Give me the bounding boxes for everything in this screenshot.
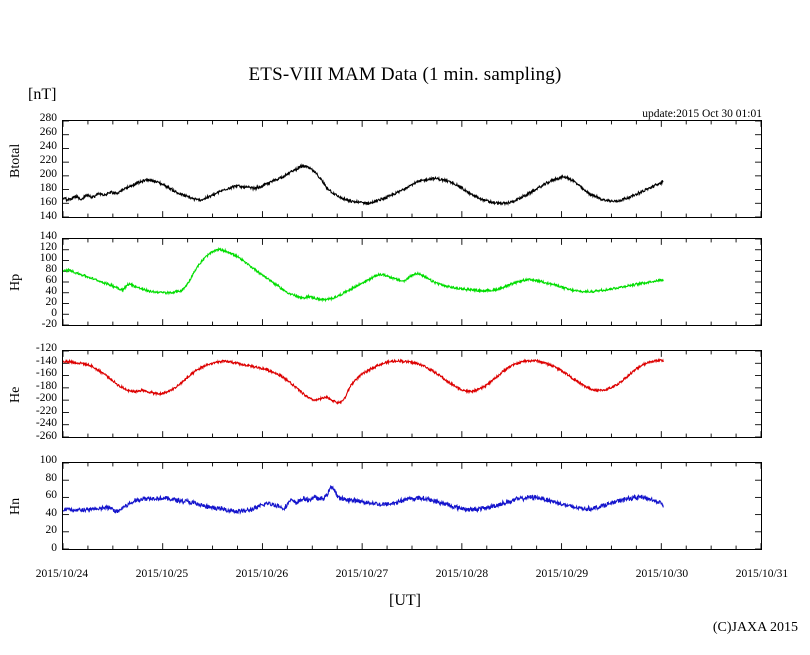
y-tick-label: 0 — [0, 308, 57, 320]
y-tick-label: 120 — [0, 242, 57, 254]
data-trace-btotal — [63, 165, 663, 205]
y-unit-label: [nT] — [28, 86, 56, 104]
y-tick-label: -260 — [0, 431, 57, 443]
y-tick-label: -120 — [0, 343, 57, 355]
copyright-label: (C)JAXA 2015 — [713, 620, 798, 636]
axis-label-hn: Hn — [6, 497, 26, 513]
x-axis-title: [UT] — [0, 592, 810, 610]
y-tick-label: 280 — [0, 113, 57, 125]
magnetometer-figure: ETS-VIII MAM Data (1 min. sampling) [nT]… — [0, 0, 810, 655]
x-tick-label: 2015/10/28 — [407, 568, 517, 580]
y-tick-label: 140 — [0, 231, 57, 243]
x-tick-label: 2015/10/24 — [7, 568, 117, 580]
y-tick-label: 160 — [0, 197, 57, 209]
x-tick-label: 2015/10/26 — [207, 568, 317, 580]
y-tick-label: -140 — [0, 356, 57, 368]
plot-panel-btotal — [62, 120, 762, 218]
x-tick-label: 2015/10/30 — [607, 568, 717, 580]
axis-label-hp: Hp — [6, 273, 26, 289]
axis-label-btotal: Btotal — [6, 160, 26, 176]
y-tick-label: -160 — [0, 368, 57, 380]
y-tick-label: -20 — [0, 319, 57, 331]
axis-label-he: He — [6, 385, 26, 401]
update-timestamp: update:2015 Oct 30 01:01 — [642, 108, 762, 120]
data-trace-hp — [63, 249, 663, 301]
y-tick-label: 180 — [0, 183, 57, 195]
x-tick-label: 2015/10/29 — [507, 568, 617, 580]
y-tick-label: 100 — [0, 253, 57, 265]
page-title: ETS-VIII MAM Data (1 min. sampling) — [0, 64, 810, 86]
x-tick-label: 2015/10/31 — [707, 568, 810, 580]
y-tick-label: 0 — [0, 543, 57, 555]
y-tick-label: 100 — [0, 455, 57, 467]
x-tick-label: 2015/10/25 — [107, 568, 217, 580]
data-trace-he — [63, 360, 663, 404]
x-tick-label: 2015/10/27 — [307, 568, 417, 580]
plot-panel-hn — [62, 462, 762, 550]
y-tick-label: 20 — [0, 297, 57, 309]
y-tick-label: 260 — [0, 127, 57, 139]
y-tick-label: -220 — [0, 406, 57, 418]
data-trace-hn — [63, 486, 663, 513]
plot-panel-he — [62, 350, 762, 438]
y-tick-label: 140 — [0, 211, 57, 223]
plot-panel-hp — [62, 238, 762, 326]
y-tick-label: 80 — [0, 473, 57, 485]
y-tick-label: 20 — [0, 525, 57, 537]
y-tick-label: -240 — [0, 418, 57, 430]
